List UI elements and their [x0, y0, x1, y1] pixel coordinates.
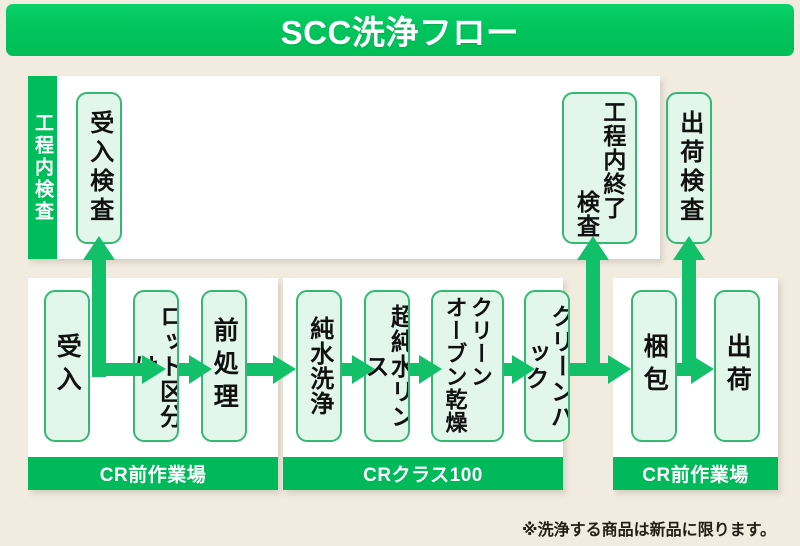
connector-pack-up-head	[577, 236, 609, 260]
connector-receiving-up-head	[83, 236, 115, 260]
connector-pre-to-wash-head	[273, 355, 296, 384]
connector-oven-to-pack-head	[512, 355, 535, 384]
connector-packing-up-shaft	[682, 250, 696, 370]
connector-lot-to-pre-head	[189, 355, 212, 384]
connector-receiving-up-shaft	[92, 250, 106, 360]
connector-packing-up-head	[673, 236, 705, 260]
connector-wash-to-rinse-head	[352, 355, 375, 384]
footnote: ※洗浄する商品は新品に限ります。	[522, 516, 776, 540]
connector-pack-up-shaft	[586, 250, 600, 370]
connector-receiving-to-lot-head	[142, 355, 166, 384]
connector-rinse-to-oven-head	[419, 355, 442, 384]
flow-connectors	[0, 0, 800, 546]
flow-diagram-root: SCC洗浄フロー 工程内検査 受入検査 工程内終了 検査 出荷検査 CR前作業場…	[0, 0, 800, 546]
connector-pack-to-packing-head	[608, 355, 631, 384]
